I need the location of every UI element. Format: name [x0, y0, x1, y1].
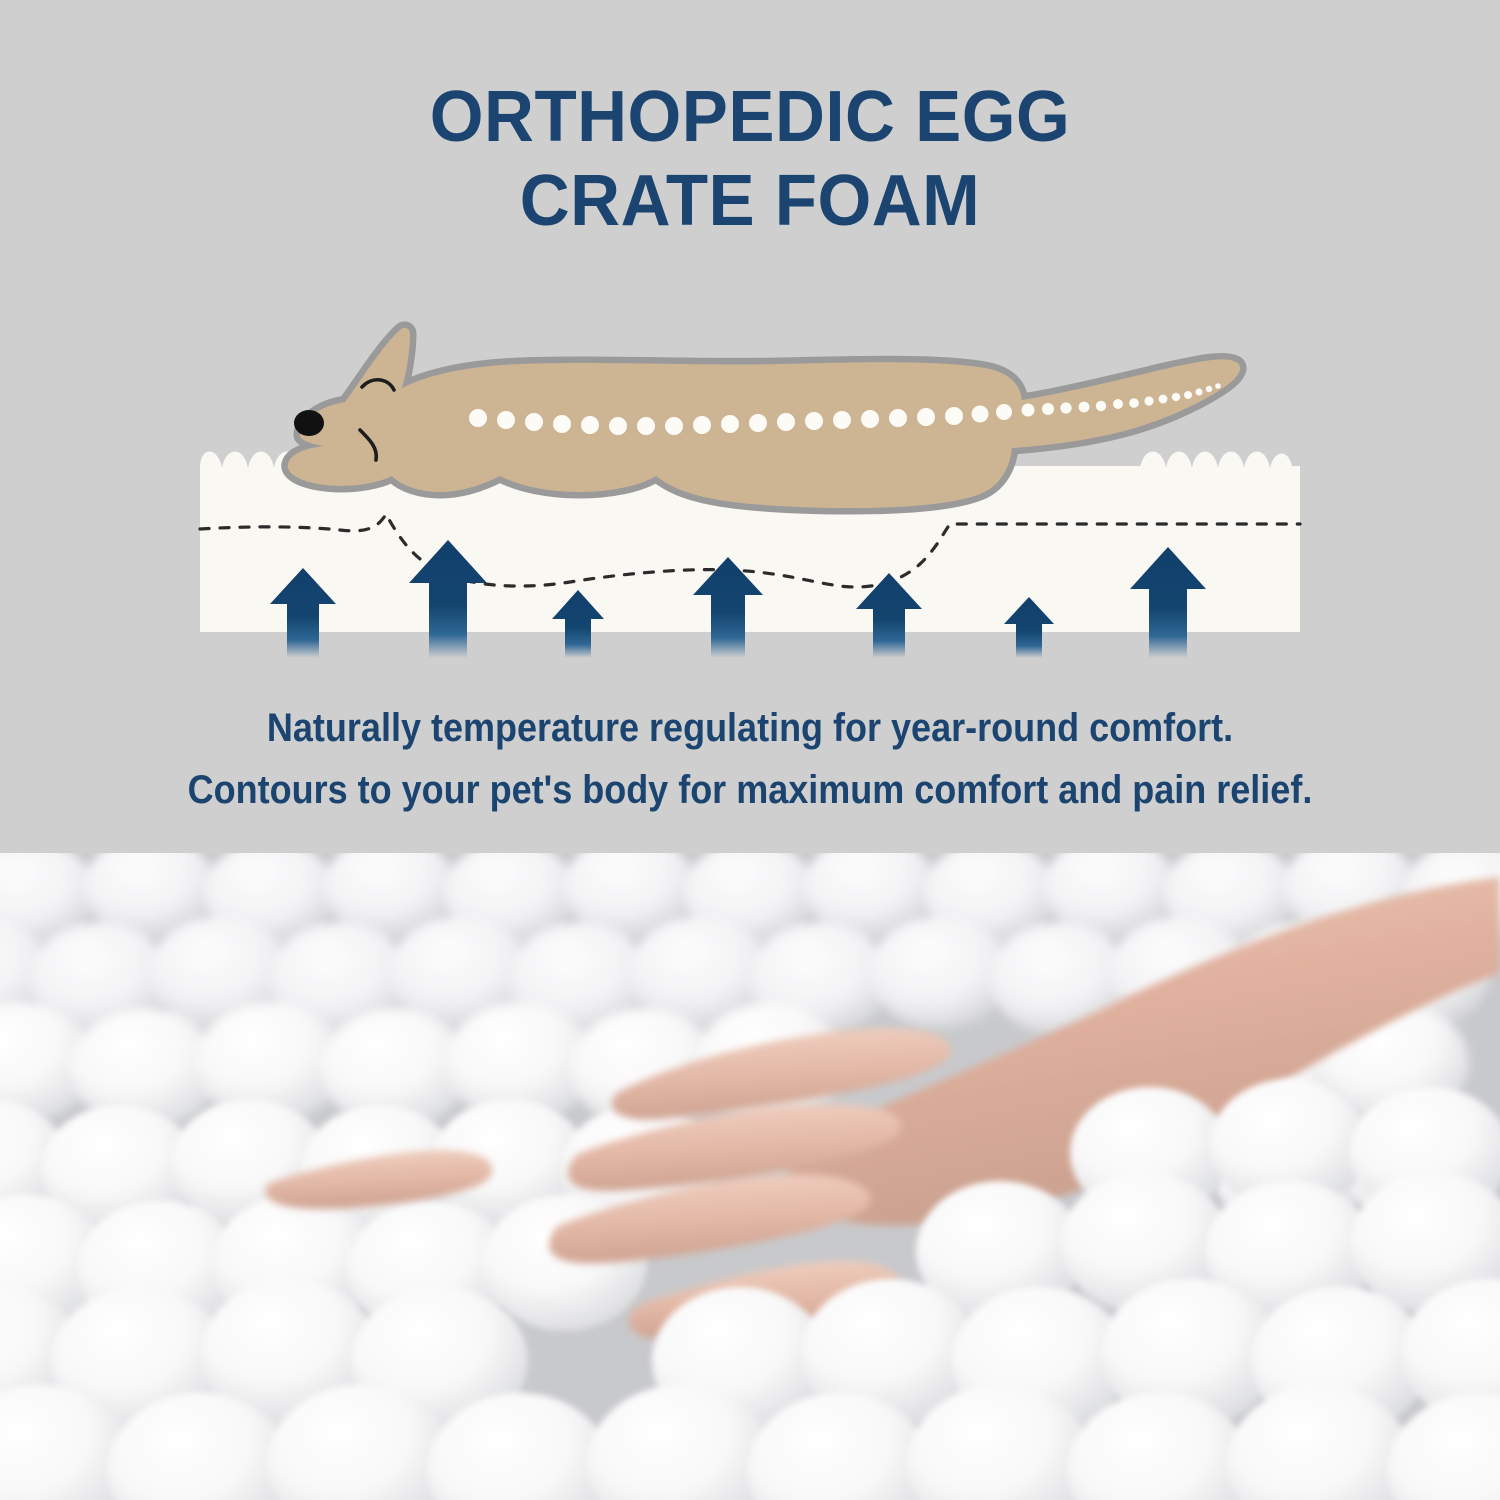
top-info-panel: ORTHOPEDIC EGG CRATE FOAM — [0, 0, 1500, 853]
page-title: ORTHOPEDIC EGG CRATE FOAM — [30, 76, 1470, 243]
caption-line-1: Naturally temperature regulating for yea… — [75, 697, 1425, 759]
product-infographic: ORTHOPEDIC EGG CRATE FOAM — [0, 0, 1500, 1500]
dog-nose — [294, 410, 324, 436]
feature-captions: Naturally temperature regulating for yea… — [75, 697, 1425, 821]
title-line-1: ORTHOPEDIC EGG — [30, 76, 1470, 160]
foam-texture-photo — [0, 853, 1500, 1500]
foam-cross-section-diagram — [0, 290, 1500, 670]
title-line-2: CRATE FOAM — [30, 160, 1470, 244]
caption-line-2: Contours to your pet's body for maximum … — [75, 759, 1425, 821]
